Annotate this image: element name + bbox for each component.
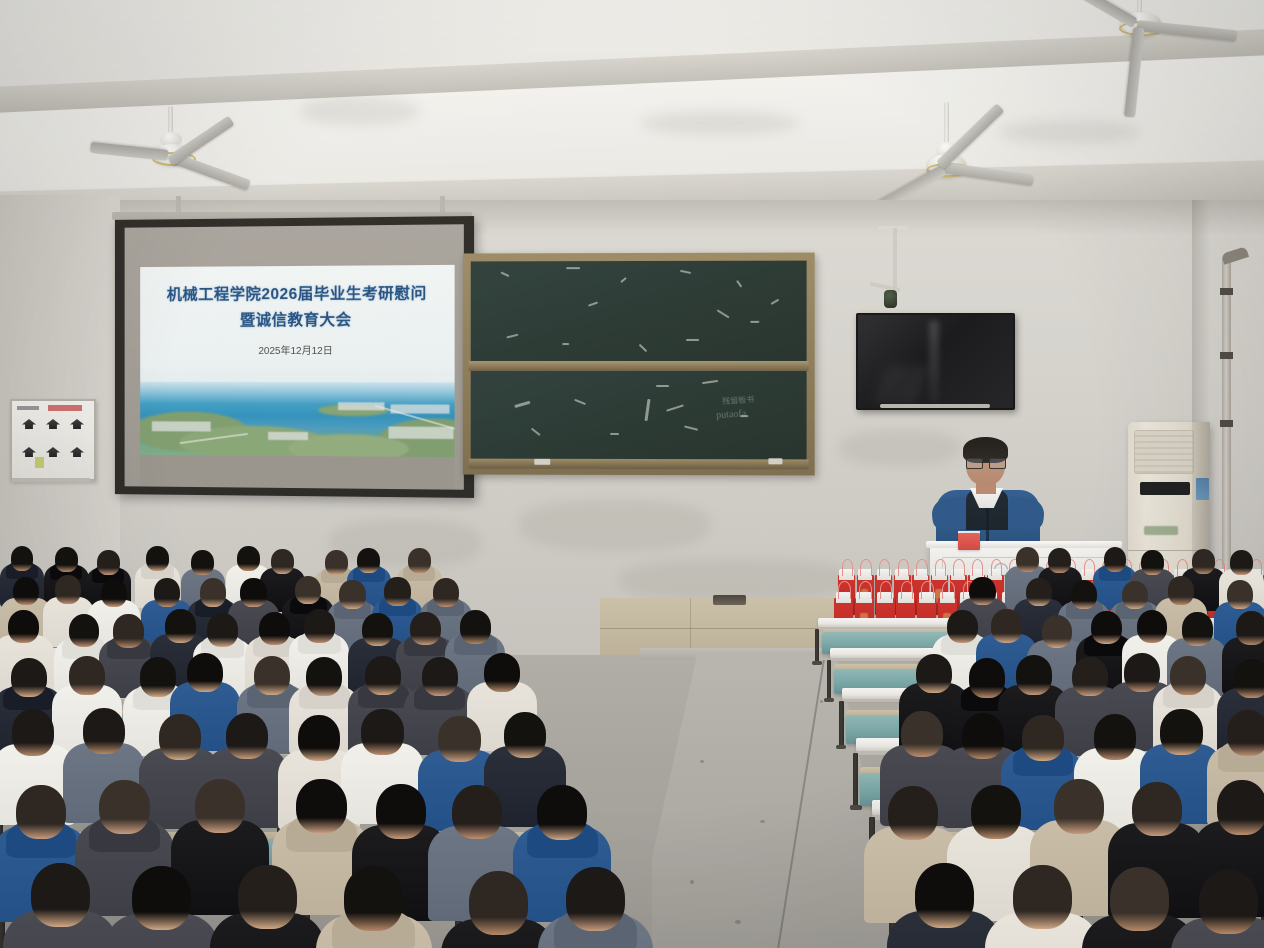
audience-member-head <box>113 614 144 648</box>
audience-member-head <box>1091 611 1122 645</box>
audience-member-head <box>1013 865 1072 929</box>
blackboard-chalk-tray <box>469 459 809 470</box>
gift-bag-handle <box>916 559 928 576</box>
audience-member-head <box>901 711 943 757</box>
gift-bag-handle <box>860 559 872 576</box>
audience-member-head <box>296 779 346 834</box>
poster-shelf <box>12 478 90 482</box>
audience-member-head <box>1141 550 1164 575</box>
audience-member-head <box>1094 714 1136 760</box>
poster-header-right <box>48 405 82 411</box>
audience-member-head <box>1110 867 1169 931</box>
poster-tag <box>35 457 44 468</box>
gift-bag-handle <box>842 559 854 576</box>
audience-member-head <box>191 550 214 575</box>
audience-member-head <box>460 610 491 644</box>
screen-mount-arm <box>176 196 181 216</box>
audience-member-head <box>344 866 403 930</box>
gift-bag-handle <box>879 559 891 576</box>
audience-member-head <box>962 713 1004 759</box>
audience-member-head <box>1168 576 1194 605</box>
audience-member-head <box>433 578 459 607</box>
audience-member-head <box>200 578 226 607</box>
audience-member-head <box>12 709 54 755</box>
tv-mount-bar <box>880 404 990 408</box>
audience-member-head <box>504 712 546 758</box>
gift-bag-handle <box>942 581 955 599</box>
audience-member-head <box>1160 709 1202 755</box>
gift-bag-handle <box>859 581 872 599</box>
projection-screen: 机械工程学院2026届毕业生考研慰问 暨诚信教育大会 2025年12月12日 <box>115 216 474 498</box>
audience-member-head <box>295 576 321 605</box>
blackboard-panel-lower: 残留板书 putaofa <box>471 371 807 461</box>
audience-member-head <box>969 658 1005 697</box>
slide-title-line-2: 暨诚信教育大会 <box>140 307 454 330</box>
audience-member-head <box>254 656 290 695</box>
audience-member-head <box>325 550 348 575</box>
audience-member-head <box>69 656 105 695</box>
audience-member-head <box>484 653 520 692</box>
audience-member-head <box>1217 780 1264 835</box>
presentation-slide: 机械工程学院2026届毕业生考研慰问 暨诚信教育大会 2025年12月12日 <box>140 265 454 457</box>
audience-member-head <box>991 609 1022 643</box>
audience-member-head <box>916 654 952 693</box>
safety-notice-poster <box>10 399 96 481</box>
blackboard-chalk-writing: 残留板书 <box>722 394 755 407</box>
gift-bag-handle <box>991 559 1003 576</box>
audience-member-head <box>11 546 34 571</box>
audience-member-head <box>8 610 39 644</box>
audience-member-head <box>422 657 458 696</box>
audience-member-head <box>16 785 66 840</box>
audience-member-head <box>915 863 974 927</box>
audience-member-head <box>207 613 238 647</box>
audience-member-head <box>1022 715 1064 761</box>
audience-member-head <box>1236 611 1264 645</box>
audience-member-head <box>1192 549 1215 574</box>
wall-tv <box>856 313 1015 410</box>
ceiling <box>0 0 1264 215</box>
poster-header-left <box>17 406 39 410</box>
projection-screen-surface: 机械工程学院2026届毕业生考研慰问 暨诚信教育大会 2025年12月12日 <box>125 224 464 489</box>
audience-member-head <box>187 653 223 692</box>
ac-brand-logo <box>1144 526 1178 535</box>
audience-member-head <box>259 612 290 646</box>
audience-member-head <box>969 577 995 606</box>
audience-member-head <box>1026 578 1052 607</box>
audience-member-head <box>140 657 176 696</box>
audience-member-head <box>438 716 480 762</box>
audience-member-head <box>101 579 127 608</box>
gift-bag-handle <box>921 581 934 599</box>
desk-leg <box>853 753 858 807</box>
blackboard-eraser <box>534 459 550 465</box>
audience-member-head <box>304 609 335 643</box>
audience-member-head <box>452 785 502 840</box>
audience-member-head <box>1104 547 1127 572</box>
ac-air-grille <box>1134 430 1194 474</box>
audience-member-head <box>362 613 393 647</box>
audience-member-head <box>238 865 297 929</box>
gift-bag-handle <box>953 559 965 576</box>
surveillance-camera-icon <box>884 290 897 308</box>
blackboard-eraser <box>768 458 782 464</box>
audience-member-head <box>357 548 380 573</box>
screen-mount-arm <box>440 196 445 216</box>
audience-member-head <box>31 863 90 927</box>
audience-member-head <box>1072 657 1108 696</box>
slide-date: 2025年12月12日 <box>140 342 454 357</box>
blackboard-panel-upper <box>471 261 807 361</box>
audience-member-head <box>271 549 294 574</box>
audience-member-head <box>97 550 120 575</box>
audience-member-head <box>1227 580 1253 609</box>
audience-member-head <box>154 578 180 607</box>
poster-icon <box>46 447 60 457</box>
glasses-icon <box>966 458 1004 467</box>
audience-member-head <box>237 546 260 571</box>
poster-icon <box>70 419 84 429</box>
audience-member-head <box>1182 612 1213 646</box>
audience-member-head <box>195 779 245 834</box>
audience-member-head <box>298 715 340 761</box>
desk-foot <box>824 698 834 702</box>
audience-member-head <box>13 577 39 606</box>
audience-member-head <box>537 785 587 840</box>
audience-member-head <box>69 614 100 648</box>
gift-bag-handle <box>880 581 893 599</box>
audience-member-head <box>1234 659 1264 698</box>
audience-member-head <box>410 612 441 646</box>
audience-member-head <box>1132 782 1182 837</box>
audience-member-head <box>159 714 201 760</box>
ac-display-panel <box>1140 482 1190 495</box>
audience-member-head <box>1122 581 1148 610</box>
gift-bag-handle <box>838 581 851 599</box>
blackboard-chalk-writing: putaofa <box>716 408 747 421</box>
audience-member-head <box>226 713 268 759</box>
audience-member-head <box>306 657 342 696</box>
gift-bag-handle <box>972 559 984 576</box>
desk-leg <box>839 701 844 747</box>
audience-member-head <box>408 548 431 573</box>
poster-icon <box>70 447 84 457</box>
audience-member-head <box>1137 610 1168 644</box>
poster-icon <box>22 447 36 457</box>
poster-icon <box>22 419 36 429</box>
audience-member-head <box>1071 580 1097 609</box>
audience-member-head <box>1124 653 1160 692</box>
red-card-on-lectern <box>958 533 980 550</box>
desk-foot <box>812 661 822 665</box>
camera-mount-rod <box>893 228 897 288</box>
poster-icon <box>46 419 60 429</box>
gift-bag-handle <box>935 559 947 576</box>
slide-aerial-photo <box>140 382 454 458</box>
audience-member-head <box>146 546 169 571</box>
audience-member-head <box>947 610 978 644</box>
blackboard: 残留板书 putaofa <box>463 253 815 476</box>
audience-member-head <box>971 785 1021 840</box>
audience-member-head <box>1170 656 1206 695</box>
audience-member-head <box>365 656 401 695</box>
audience-member-head <box>55 547 78 572</box>
audience-member-head <box>384 577 410 606</box>
lecture-hall-photo: 机械工程学院2026届毕业生考研慰问 暨诚信教育大会 2025年12月12日 <box>0 0 1264 948</box>
audience-member-head <box>11 658 47 697</box>
audience-member-head <box>99 780 149 835</box>
audience-member-head <box>1042 615 1073 649</box>
audience-member-head <box>240 578 266 607</box>
audience-member-head <box>55 575 81 604</box>
audience-member-head <box>1016 547 1039 572</box>
desk-leg <box>827 660 831 700</box>
audience-member-head <box>1230 550 1253 575</box>
audience-member-head <box>83 708 125 754</box>
audience-member-head <box>1016 655 1052 694</box>
gift-bag-handle <box>901 581 914 599</box>
audience-member-head <box>566 867 625 931</box>
audience-member-head <box>165 609 196 643</box>
audience-member-head <box>361 709 403 755</box>
audience-member-head <box>132 866 191 930</box>
audience-member-head <box>339 580 365 609</box>
audience-member-head <box>376 784 426 839</box>
slide-title-line-1: 机械工程学院2026届毕业生考研慰问 <box>140 281 454 305</box>
wall-vent <box>713 595 746 605</box>
audience-member-head <box>888 786 938 841</box>
audience-member-head <box>1048 548 1071 573</box>
gift-bag-handle <box>898 559 910 576</box>
wall-conduit <box>1222 258 1231 603</box>
desk-leg <box>815 629 819 663</box>
desk-foot <box>836 745 846 749</box>
audience-member-head <box>1199 870 1258 934</box>
audience-member-head <box>1227 710 1264 756</box>
audience-member-head <box>1054 779 1104 834</box>
audience-member-head <box>469 871 528 935</box>
blackboard-rail <box>469 361 809 371</box>
